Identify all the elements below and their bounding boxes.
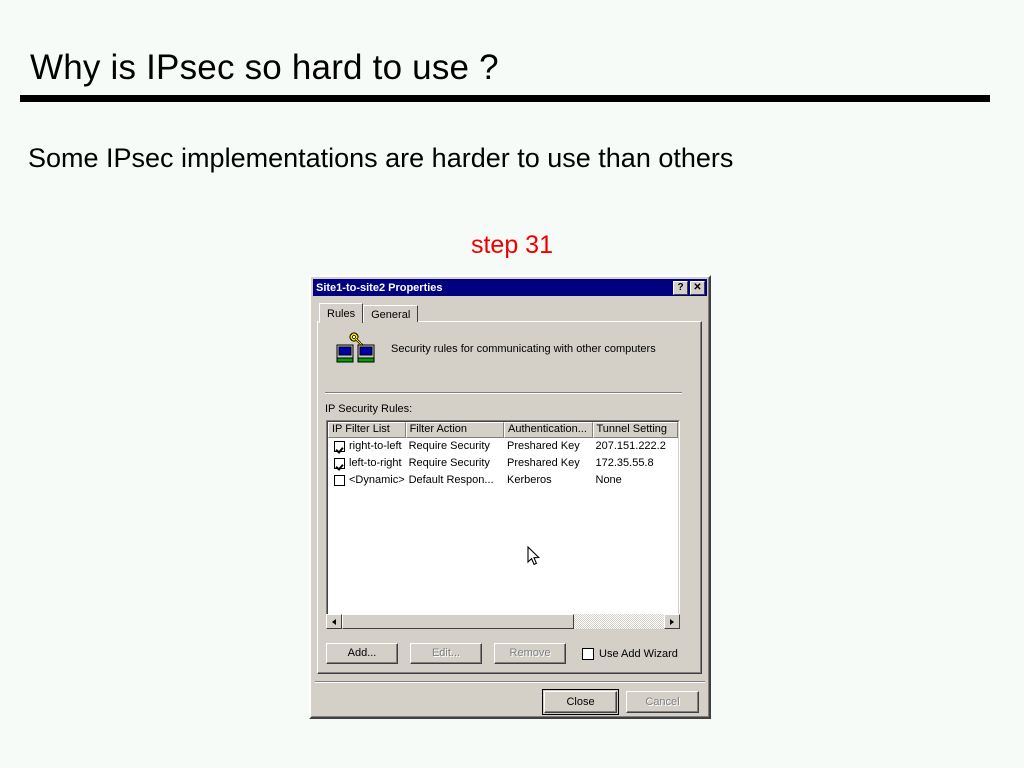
- scroll-right-icon[interactable]: [664, 614, 680, 629]
- use-add-wizard-label: Use Add Wizard: [599, 648, 678, 660]
- cell-filter-action: Require Security: [406, 456, 504, 471]
- ip-security-rules-list[interactable]: IP Filter List Filter Action Authenticat…: [326, 420, 680, 625]
- cell-authentication: Kerberos: [504, 473, 593, 488]
- ip-security-rules-label: IP Security Rules:: [325, 403, 412, 415]
- dialog-title: Site1-to-site2 Properties: [313, 282, 443, 294]
- step-label: step 31: [0, 231, 1024, 260]
- help-icon[interactable]: ?: [673, 281, 688, 295]
- title-divider: [20, 95, 990, 102]
- cancel-button[interactable]: Cancel: [626, 691, 699, 713]
- use-add-wizard-checkbox[interactable]: Use Add Wizard: [582, 648, 678, 660]
- tab-general[interactable]: General: [363, 305, 418, 322]
- column-header-authentication[interactable]: Authentication...: [504, 422, 593, 438]
- slide-body-text: Some IPsec implementations are harder to…: [28, 143, 733, 174]
- cell-filter-action: Require Security: [406, 439, 504, 454]
- table-row[interactable]: <Dynamic> Default Respon... Kerberos Non…: [328, 472, 678, 489]
- page-title: Why is IPsec so hard to use ?: [30, 48, 499, 88]
- rules-description: Security rules for communicating with ot…: [391, 343, 656, 355]
- row-checkbox[interactable]: [334, 475, 345, 486]
- column-header-tunnel-setting[interactable]: Tunnel Setting: [593, 422, 679, 438]
- horizontal-scrollbar[interactable]: [326, 614, 680, 630]
- tab-strip: Rules General: [319, 303, 418, 322]
- cell-authentication: Preshared Key: [504, 456, 593, 471]
- row-checkbox[interactable]: [334, 458, 345, 469]
- close-button[interactable]: Close: [544, 691, 617, 713]
- cell-ip-filter-list: right-to-left: [349, 439, 402, 454]
- table-header-row: IP Filter List Filter Action Authenticat…: [328, 422, 678, 438]
- add-button[interactable]: Add...: [326, 643, 398, 664]
- cell-tunnel-setting: 207.151.222.2: [593, 439, 679, 454]
- use-add-wizard-box[interactable]: [582, 648, 594, 660]
- row-checkbox[interactable]: [334, 441, 345, 452]
- rule-action-buttons: Add... Edit... Remove Use Add Wizard: [326, 643, 678, 664]
- cell-authentication: Preshared Key: [504, 439, 593, 454]
- edit-button[interactable]: Edit...: [410, 643, 482, 664]
- dialog-titlebar[interactable]: Site1-to-site2 Properties ? ✕: [313, 279, 707, 296]
- scrollbar-track[interactable]: [342, 614, 664, 629]
- dialog-footer-buttons: Close Cancel: [544, 691, 699, 713]
- tab-rules[interactable]: Rules: [319, 303, 363, 323]
- section-divider: [325, 392, 682, 394]
- properties-dialog: Site1-to-site2 Properties ? ✕ Rules Gene…: [309, 275, 711, 719]
- table-row[interactable]: left-to-right Require Security Preshared…: [328, 455, 678, 472]
- cell-tunnel-setting: None: [593, 473, 679, 488]
- close-icon[interactable]: ✕: [690, 281, 705, 295]
- titlebar-button-group: ? ✕: [673, 281, 707, 295]
- column-header-ip-filter-list[interactable]: IP Filter List: [328, 422, 406, 438]
- column-header-filter-action[interactable]: Filter Action: [406, 422, 504, 438]
- cell-ip-filter-list: <Dynamic>: [349, 473, 405, 488]
- two-computers-with-key-icon: [336, 332, 376, 366]
- list-inner: IP Filter List Filter Action Authenticat…: [327, 421, 679, 624]
- cell-filter-action: Default Respon...: [406, 473, 504, 488]
- footer-divider: [315, 681, 705, 683]
- scrollbar-thumb[interactable]: [342, 614, 574, 629]
- cell-ip-filter-list: left-to-right: [349, 456, 402, 471]
- cell-tunnel-setting: 172.35.55.8: [593, 456, 679, 471]
- rules-header: Security rules for communicating with ot…: [336, 332, 656, 366]
- remove-button[interactable]: Remove: [494, 643, 566, 664]
- table-row[interactable]: right-to-left Require Security Preshared…: [328, 438, 678, 455]
- scroll-left-icon[interactable]: [326, 614, 342, 629]
